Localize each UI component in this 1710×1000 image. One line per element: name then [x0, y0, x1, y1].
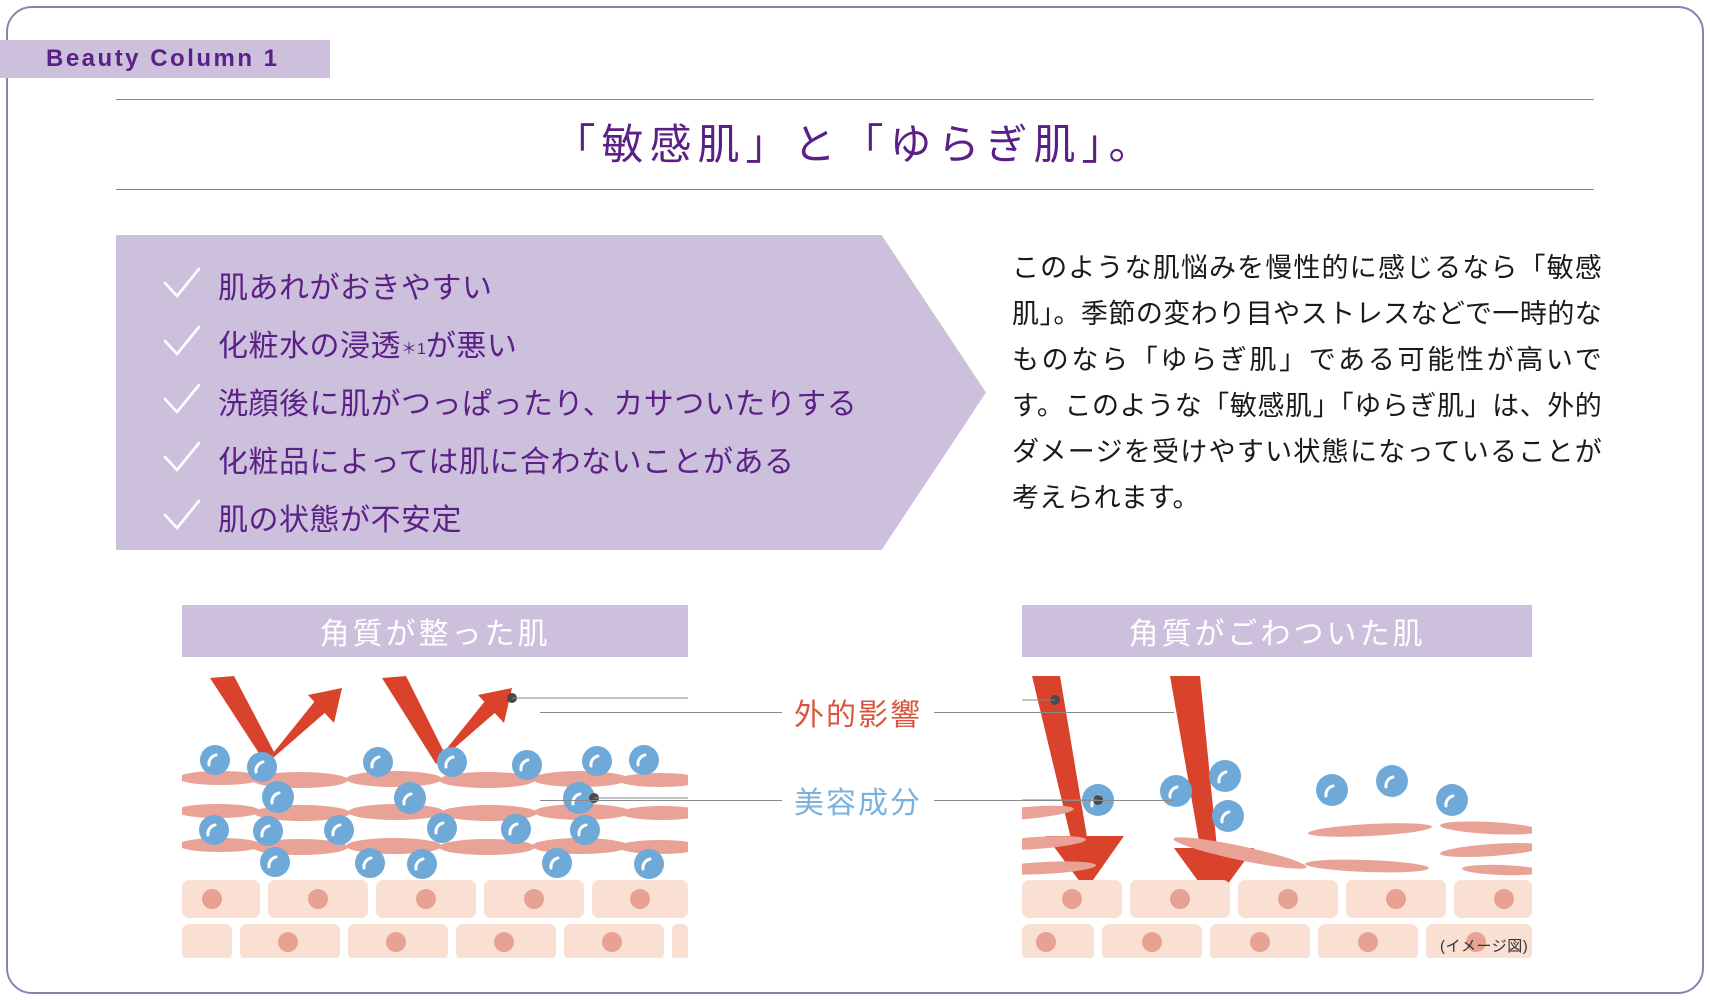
title-divider-bottom [116, 189, 1594, 190]
checklist-item: 肌の状態が不安定 [160, 489, 986, 545]
callout-line-left [540, 800, 782, 801]
panel-heading-rough-skin: 角質がごわついた肌 [1022, 605, 1532, 657]
checklist-item-label: 化粧水の浸透＊1が悪い [218, 321, 517, 365]
panel-heading-label: 角質がごわついた肌 [1129, 609, 1426, 653]
panel-heading-label: 角質が整った肌 [320, 609, 551, 653]
epidermal-cell-row [1022, 880, 1532, 918]
checklist-item-label: 化粧品によっては肌に合わないことがある [218, 437, 795, 481]
check-icon [160, 263, 204, 307]
checklist-item-label-main: 化粧水の浸透 [218, 330, 401, 363]
callout-beauty-ingredient: 美容成分 [540, 778, 1180, 822]
check-icon [160, 495, 204, 539]
checklist-item: 肌あれがおきやすい [160, 257, 986, 313]
checklist-item-label: 肌あれがおきやすい [218, 263, 493, 307]
checklist-item-label-tail: が悪い [426, 330, 518, 363]
check-icon [160, 321, 204, 365]
symptom-checklist: 肌あれがおきやすい 化粧水の浸透＊1が悪い 洗顔後に肌がつっぱったり、カサついた… [116, 235, 986, 550]
footnote-marker: ＊1 [401, 341, 426, 358]
callout-line-right [934, 800, 1174, 801]
checklist-item: 化粧水の浸透＊1が悪い [160, 315, 986, 371]
callout-line-right [934, 712, 1174, 713]
panel-heading-healthy-skin: 角質が整った肌 [182, 605, 688, 657]
callout-outer-influence: 外的影響 [540, 690, 1180, 734]
checklist-item: 洗顔後に肌がつっぱったり、カサついたりする [160, 373, 986, 429]
outer-influence-arrow-group [210, 676, 342, 764]
beauty-column-badge: Beauty Column 1 [0, 40, 330, 78]
checklist-item-label: 洗顔後に肌がつっぱったり、カサついたりする [218, 379, 857, 423]
explanation-paragraph: このような肌悩みを慢性的に感じるなら「敏感肌」。季節の変わり目やストレスなどで一… [1012, 245, 1602, 521]
check-icon [160, 437, 204, 481]
callout-outer-influence-label: 外的影響 [782, 690, 934, 734]
check-icon [160, 379, 204, 423]
checklist-item: 化粧品によっては肌に合わないことがある [160, 431, 986, 487]
checklist-item-label: 肌の状態が不安定 [218, 495, 462, 539]
beauty-column-badge-label: Beauty Column 1 [46, 45, 280, 73]
title-divider-top [116, 99, 1594, 100]
page-title: 「敏感肌」と「ゆらぎ肌」。 [116, 112, 1594, 178]
page-root: Beauty Column 1 「敏感肌」と「ゆらぎ肌」。 肌あれがおきやすい … [0, 0, 1710, 1000]
image-caption-note: (イメージ図) [1440, 935, 1528, 956]
epidermal-cell-nuclei [1062, 889, 1514, 909]
callout-line-left [540, 712, 782, 713]
callout-beauty-ingredient-label: 美容成分 [782, 778, 934, 822]
